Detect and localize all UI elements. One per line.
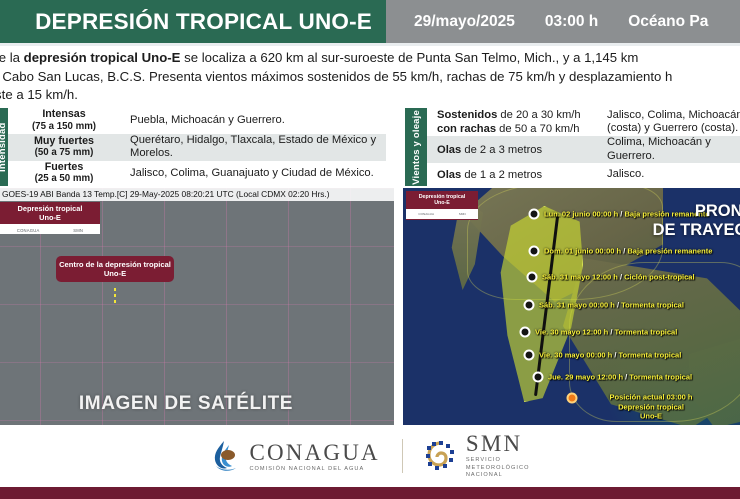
- header-divider: [0, 43, 740, 46]
- conagua-logo-small: CONAGUA: [418, 212, 434, 216]
- map-title-line-1: PRONÓSTI: [653, 202, 740, 221]
- header-basin: Océano Pa: [628, 13, 708, 31]
- forecast-track-panel: Lun. 02 junio 00:00 h / Baja presión rem…: [403, 188, 740, 425]
- track-point-label: Vie. 30 mayo 12:00 h / Tormenta tropical: [535, 328, 677, 337]
- current-position-time: Posición actual 03:00 h: [610, 393, 693, 403]
- track-point-time: Vie. 30 mayo 00:00 h: [539, 351, 612, 360]
- satellite-badge-line-2: Uno-E: [0, 214, 100, 223]
- wind-value-cell: Sostenidos de 20 a 30 km/h con rachas de…: [427, 108, 597, 136]
- conagua-logo: CONAGUA COMISIÓN NACIONAL DEL AGUA: [210, 439, 379, 473]
- wind-value-cell: Olas de 2 a 3 metros: [427, 143, 597, 157]
- rain-states-cell: Querétaro, Hidalgo, Tlaxcala, Estado de …: [120, 134, 386, 161]
- smn-subtitle-3: NACIONAL: [466, 472, 530, 479]
- header-date: 29/mayo/2025: [414, 13, 515, 31]
- track-point-time: Jue. 29 mayo 12:00 h: [548, 373, 623, 382]
- rain-states-cell: Puebla, Michoacán y Guerrero.: [120, 114, 386, 128]
- smn-logo-small: SMN: [73, 228, 83, 233]
- table-row: Intensas (75 a 150 mm) Puebla, Michoacán…: [8, 108, 386, 134]
- current-position-category: Depresión tropical: [610, 402, 693, 412]
- wind-states-cell: Jalisco.: [597, 168, 740, 182]
- rain-states-cell: Jalisco, Colima, Guanajuato y Ciudad de …: [120, 167, 386, 181]
- bulletin-header: DEPRESIÓN TROPICAL UNO-E 29/mayo/2025 03…: [0, 0, 740, 43]
- summary-line-3: roeste a 15 km/h.: [0, 86, 740, 105]
- track-point-label: Dom. 01 junio 00:00 h / Baja presión rem…: [544, 247, 712, 256]
- footer-divider: [402, 439, 403, 473]
- summary-paragraph: ro de la depresión tropical Uno-E se loc…: [0, 49, 740, 105]
- track-point-label: Sáb. 31 mayo 12:00 h / Ciclón post-tropi…: [542, 273, 695, 282]
- track-point[interactable]: [520, 327, 531, 338]
- track-point-category: Ciclón post-tropical: [624, 273, 694, 282]
- summary-line-2: - de Cabo San Lucas, B.C.S. Presenta vie…: [0, 68, 740, 87]
- map-title-line-2: DE TRAYECTOR: [653, 221, 740, 240]
- track-point[interactable]: [527, 272, 538, 283]
- table-row: Sostenidos de 20 a 30 km/h con rachas de…: [427, 108, 740, 136]
- smn-logo-small: SMN: [459, 212, 466, 216]
- wind-wave-table: Vientos y oleaje Sostenidos de 20 a 30 k…: [405, 108, 740, 186]
- track-point[interactable]: [529, 246, 540, 257]
- wind-table-vertical-label: Vientos y oleaje: [405, 108, 427, 186]
- smn-subtitle-1: SERVICIO: [466, 457, 530, 464]
- table-row: Muy fuertes (50 a 75 mm) Querétaro, Hida…: [8, 134, 386, 161]
- bulletin-page: DEPRESIÓN TROPICAL UNO-E 29/mayo/2025 03…: [0, 0, 740, 499]
- tables-row: Lluvias e intensidad Intensas (75 a 150 …: [0, 108, 740, 186]
- track-point-label: Sáb. 31 mayo 00:00 h / Tormenta tropical: [539, 301, 684, 310]
- smn-logo: SMN SERVICIO METEOROLÓGICO NACIONAL: [425, 432, 530, 479]
- wind-table-rows: Sostenidos de 20 a 30 km/h con rachas de…: [427, 108, 740, 186]
- map-storm-badge: Depresión tropical Uno-E CONAGUA SMN: [406, 191, 478, 220]
- track-point-category: Baja presión remanente: [627, 247, 712, 256]
- page-title: DEPRESIÓN TROPICAL UNO-E: [35, 9, 372, 35]
- track-point[interactable]: [533, 372, 544, 383]
- satellite-caption: IMAGEN DE SATÉLITE: [0, 393, 394, 415]
- smn-spiral-icon: [425, 440, 457, 472]
- satellite-storm-badge: Depresión tropical Uno-E CONAGUA SMN: [0, 202, 100, 234]
- header-time: 03:00 h: [545, 13, 598, 31]
- bulletin-footer: CONAGUA COMISIÓN NACIONAL DEL AGUA SMN: [0, 425, 740, 487]
- callout-leader-line: [114, 288, 116, 304]
- smn-name: SMN: [466, 432, 530, 456]
- rain-level-cell: Muy fuertes (50 a 75 mm): [8, 135, 120, 160]
- conagua-subtitle: COMISIÓN NACIONAL DEL AGUA: [249, 466, 379, 472]
- current-position-label: Posición actual 03:00 h Depresión tropic…: [610, 393, 693, 422]
- satellite-metadata-bar: GOES-19 ABI Banda 13 Temp.[C] 29-May-202…: [0, 188, 394, 201]
- rain-level-cell: Fuertes (25 a 50 mm): [8, 161, 120, 186]
- footer-accent-bar: [0, 487, 740, 499]
- track-point-time: Sáb. 31 mayo 12:00 h: [542, 273, 618, 282]
- rain-table-vertical-label: Lluvias e intensidad: [0, 108, 8, 186]
- track-point-time: Vie. 30 mayo 12:00 h: [535, 328, 608, 337]
- track-point-category: Tormenta tropical: [619, 351, 682, 360]
- wind-states-cell: Jalisco, Colima, Michoacán (costa) y Gue…: [597, 109, 740, 136]
- storm-center-callout: Centro de la depresión tropical Uno-E: [56, 256, 174, 282]
- conagua-water-icon: [210, 439, 240, 473]
- table-row: Fuertes (25 a 50 mm) Jalisco, Colima, Gu…: [8, 161, 386, 187]
- track-point-category: Tormenta tropical: [615, 328, 678, 337]
- track-point[interactable]: [529, 209, 540, 220]
- track-point-label: Jue. 29 mayo 12:00 h / Tormenta tropical: [548, 373, 692, 382]
- conagua-name: CONAGUA: [249, 441, 379, 465]
- rain-level-cell: Intensas (75 a 150 mm): [8, 108, 120, 133]
- header-meta-block: 29/mayo/2025 03:00 h Océano Pa: [386, 0, 740, 43]
- rain-table-rows: Intensas (75 a 150 mm) Puebla, Michoacán…: [8, 108, 386, 186]
- track-point-time: Dom. 01 junio 00:00 h: [544, 247, 621, 256]
- table-row: Olas de 2 a 3 metros Colima, Michoacán y…: [427, 136, 740, 163]
- wind-states-cell: Colima, Michoacán y Guerrero.: [597, 136, 740, 163]
- summary-line-1: ro de la depresión tropical Uno-E se loc…: [0, 49, 740, 68]
- rain-intensity-table: Lluvias e intensidad Intensas (75 a 150 …: [0, 108, 386, 186]
- current-position-name: Uno-E: [610, 412, 693, 422]
- imagery-panels: GOES-19 ABI Banda 13 Temp.[C] 29-May-202…: [0, 188, 740, 425]
- track-point-time: Lun. 02 junio 00:00 h: [544, 210, 618, 219]
- map-badge-line-2: Uno-E: [406, 200, 478, 206]
- smn-subtitle-2: METEOROLÓGICO: [466, 465, 530, 472]
- track-point[interactable]: [524, 350, 535, 361]
- map-title: PRONÓSTI DE TRAYECTOR: [653, 202, 740, 240]
- satellite-image-panel: GOES-19 ABI Banda 13 Temp.[C] 29-May-202…: [0, 188, 394, 425]
- track-point[interactable]: [524, 300, 535, 311]
- table-row: Olas de 1 a 2 metros Jalisco.: [427, 163, 740, 186]
- wind-value-cell: Olas de 1 a 2 metros: [427, 168, 597, 182]
- header-title-block: DEPRESIÓN TROPICAL UNO-E: [0, 0, 386, 43]
- track-point-category: Tormenta tropical: [621, 301, 684, 310]
- track-point-label: Vie. 30 mayo 00:00 h / Tormenta tropical: [539, 351, 681, 360]
- conagua-logo-small: CONAGUA: [17, 228, 40, 233]
- current-position-marker[interactable]: [567, 393, 578, 404]
- track-point-time: Sáb. 31 mayo 00:00 h: [539, 301, 615, 310]
- track-point-category: Tormenta tropical: [629, 373, 692, 382]
